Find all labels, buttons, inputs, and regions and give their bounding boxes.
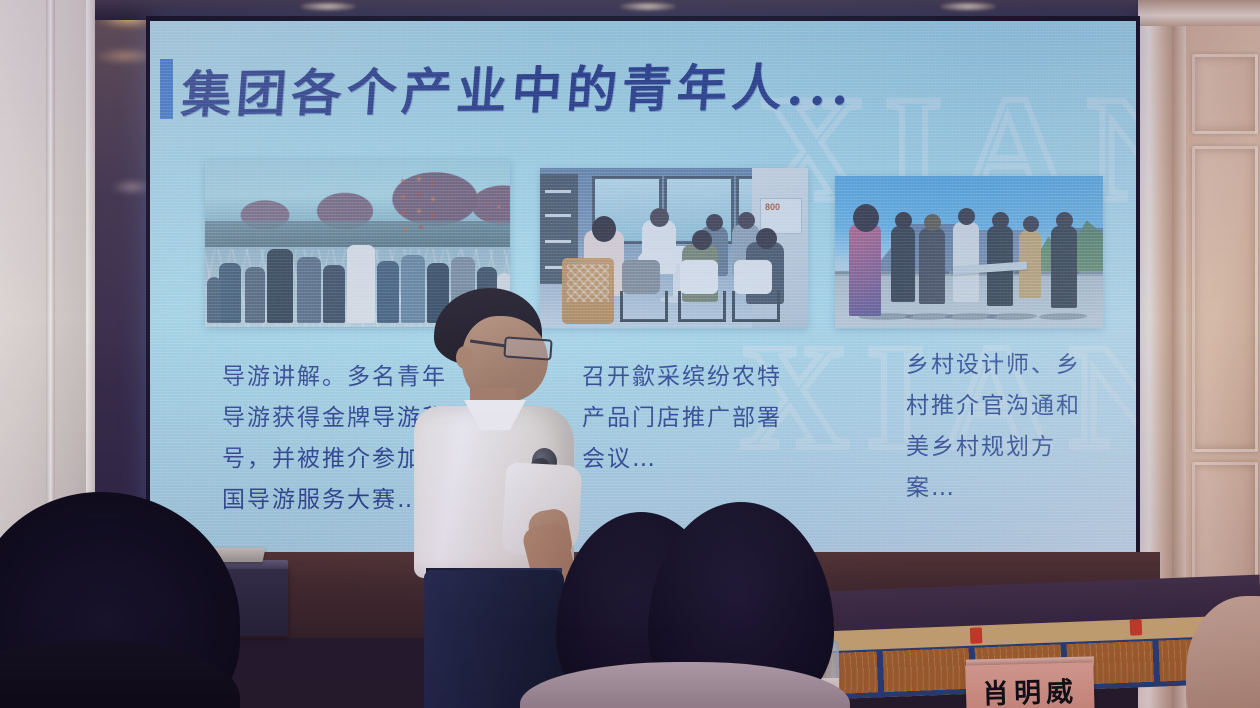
photo2-person-head bbox=[738, 212, 755, 229]
photo3-person-foreground bbox=[849, 224, 881, 316]
photo3-person-head bbox=[895, 212, 912, 229]
right-wall-cornice bbox=[1138, 0, 1260, 26]
photo3-person-head bbox=[992, 212, 1009, 229]
ceiling-light bbox=[620, 2, 676, 11]
presenter-ear bbox=[456, 346, 473, 369]
photo2-person-head bbox=[756, 228, 777, 249]
photo1-wall bbox=[205, 221, 510, 247]
photo2-chair-legs bbox=[620, 291, 668, 322]
photo3-person-head bbox=[958, 208, 975, 225]
ceiling-light bbox=[940, 2, 996, 11]
photo2-chair-back bbox=[734, 260, 772, 294]
table-clip bbox=[1130, 619, 1143, 635]
recess-light-glow-secondary bbox=[95, 48, 152, 64]
photo2-person-head bbox=[650, 208, 669, 227]
presenter-glasses bbox=[503, 336, 552, 360]
photo3-person-head bbox=[853, 204, 879, 232]
photo1-lantern-display bbox=[395, 173, 439, 239]
photo2-chair-back bbox=[680, 260, 718, 294]
slide-caption-2: 召开歙采缤纷农特产品门店推广部署会议… bbox=[582, 357, 797, 480]
photo3-person bbox=[953, 222, 979, 302]
wall-panel bbox=[1192, 146, 1258, 452]
slide-photo-mountain-road bbox=[835, 176, 1103, 328]
photo2-chair-back bbox=[622, 260, 660, 294]
photo2-person-head bbox=[592, 216, 616, 242]
photo2-person-head bbox=[706, 214, 723, 231]
photo3-person bbox=[1051, 226, 1077, 308]
name-placard-text: 肖明威 bbox=[982, 669, 1079, 708]
photo-scene: XIAN XIAN 集团各个产业中的青年人... bbox=[0, 0, 1260, 708]
led-screen: XIAN XIAN 集团各个产业中的青年人... bbox=[150, 21, 1136, 554]
name-placard: 肖明威 bbox=[965, 662, 1094, 708]
wall-panel bbox=[1192, 54, 1258, 134]
photo3-person bbox=[919, 228, 945, 304]
title-accent-bar bbox=[160, 59, 173, 119]
photo1-lantern-display-small bbox=[481, 197, 507, 237]
slide-title: 集团各个产业中的青年人... bbox=[179, 47, 857, 127]
photo2-chair-legs bbox=[678, 291, 726, 322]
slide-caption-3: 乡村设计师、乡村推介官沟通和美乡村规划方案… bbox=[906, 345, 1081, 509]
ceiling-light bbox=[300, 2, 356, 11]
photo2-person-head bbox=[692, 230, 712, 250]
table-clip bbox=[970, 627, 983, 643]
photo3-person-head bbox=[924, 214, 941, 231]
photo3-person-head bbox=[1056, 212, 1073, 229]
photo2-chair-legs bbox=[732, 291, 780, 322]
photo3-person bbox=[891, 226, 915, 302]
photo3-person-head bbox=[1023, 216, 1039, 232]
